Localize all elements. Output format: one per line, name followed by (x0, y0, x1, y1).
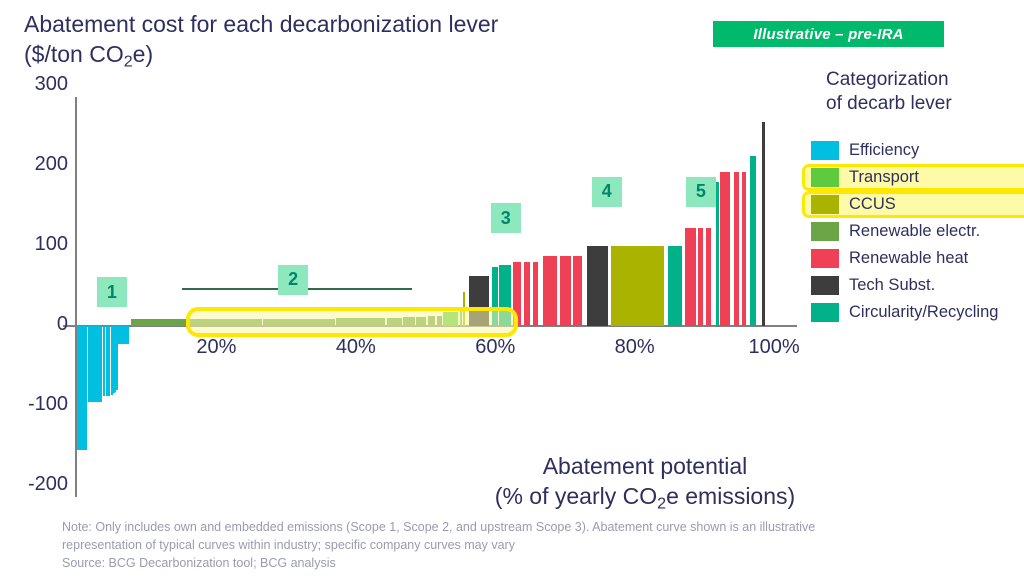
legend-item-label: CCUS (849, 195, 896, 214)
legend-swatch-icon (811, 303, 839, 322)
legend-item-label: Efficiency (849, 141, 919, 160)
legend-item-label: Tech Subst. (849, 276, 935, 295)
legend-item-label: Transport (849, 168, 919, 187)
legend-swatch-icon (811, 222, 839, 241)
bar-transport (460, 311, 462, 326)
bar-renewable-electr (428, 316, 436, 326)
legend-swatch-icon (811, 141, 839, 160)
bar-ccus (611, 246, 664, 326)
bar-renewable-heat (742, 172, 746, 326)
bar-renewable-heat (573, 256, 582, 326)
legend-item-label: Renewable heat (849, 249, 968, 268)
bar-ccus (463, 292, 465, 326)
footnote-line-3: Source: BCG Decarbonization tool; BCG an… (62, 555, 1012, 573)
bar-circularity-recycling (750, 156, 756, 326)
legend-swatch-icon (811, 276, 839, 295)
bar-renewable-heat (734, 172, 739, 326)
callout-badge-4[interactable]: 4 (592, 177, 622, 207)
callout-badge-1[interactable]: 1 (97, 277, 127, 307)
callout-badge-5[interactable]: 5 (686, 177, 716, 207)
bar-renewable-heat (560, 256, 571, 326)
legend-swatch-icon (811, 195, 839, 214)
bar-tech-subst (762, 122, 766, 326)
bar-renewable-electr (437, 316, 442, 326)
bar-renewable-electr (387, 318, 403, 326)
x-tick-label: 40% (336, 336, 376, 359)
x-axis-title: Abatement potential (% of yearly CO2e em… (445, 452, 845, 514)
legend-swatch-icon (811, 168, 839, 187)
bar-renewable-heat (706, 228, 711, 326)
bar-renewable-electr (131, 319, 262, 326)
x-tick-label: 20% (196, 336, 236, 359)
x-tick-label: 60% (475, 336, 515, 359)
x-tick-label: 80% (615, 336, 655, 359)
bar-renewable-heat (685, 228, 696, 326)
bar-renewable-heat (720, 172, 731, 326)
bar-renewable-electr (416, 317, 426, 326)
bar-renewable-electr (403, 317, 415, 326)
x-axis-title-line-1: Abatement potential (445, 452, 845, 482)
callout-badge-3[interactable]: 3 (491, 203, 521, 233)
bar-renewable-heat (543, 256, 557, 326)
bar-renewable-electr (263, 319, 335, 326)
bar-circularity-recycling (492, 267, 497, 326)
footnote-line-2: representation of typical curves within … (62, 537, 1012, 555)
bar-transport (443, 312, 459, 326)
x-axis-title-line-2: (% of yearly CO2e emissions) (445, 482, 845, 514)
legend-item-label: Circularity/Recycling (849, 303, 998, 322)
x-axis-ticks: 20%40%60%80%100% (0, 336, 1024, 364)
bar-renewable-heat (524, 262, 530, 326)
footnote-line-1: Note: Only includes own and embedded emi… (62, 519, 1012, 537)
bar-circularity-recycling (499, 265, 511, 326)
bar-circularity-recycling (668, 246, 682, 326)
x-tick-label: 100% (749, 336, 800, 359)
bar-renewable-electr (336, 318, 385, 326)
bar-renewable-heat (698, 228, 703, 326)
bar-circularity-recycling (716, 182, 718, 326)
bar-renewable-heat (533, 262, 538, 326)
callout-badge-2[interactable]: 2 (278, 265, 308, 295)
legend-swatch-icon (811, 249, 839, 268)
legend-item-label: Renewable electr. (849, 222, 980, 241)
bar-tech-subst (587, 246, 608, 326)
bar-renewable-heat (513, 262, 521, 326)
bar-tech-subst (469, 276, 489, 326)
footnote: Note: Only includes own and embedded emi… (62, 519, 1012, 572)
